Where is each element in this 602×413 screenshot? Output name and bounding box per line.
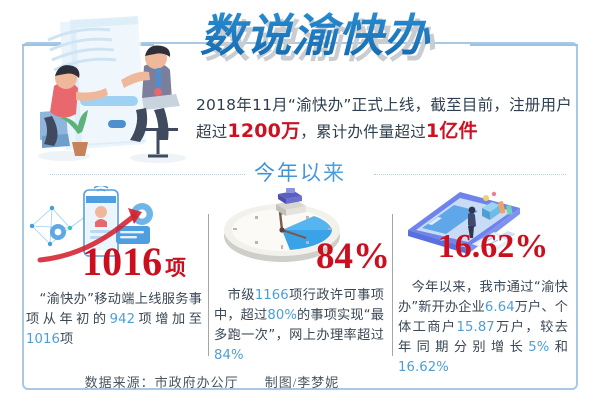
footer-credit: 制图/李梦妮 <box>265 375 340 390</box>
stat-desc-3-hl1: 6.64 <box>485 300 515 315</box>
stats-columns: 1016项 “渝快办”移动端上线服务事项从年初的942项增加至1016项 <box>24 186 576 366</box>
stat-desc-1-mid: 项增加至 <box>135 312 202 327</box>
stat-desc-2-hl2: 80% <box>267 308 297 323</box>
infographic-canvas: 数说渝快办 数说渝快办 2018年11月“渝快办”正式上线，截至目前，注册用户超… <box>0 0 602 413</box>
stat-value-1: 1016项 <box>24 242 226 282</box>
stat-number-1: 1016 <box>82 239 162 284</box>
stat-desc-3-mid3: 和 <box>549 340 568 355</box>
footer-credits: 数据来源：市政府办公厅制图/李梦妮 <box>22 372 402 391</box>
column-divider-2 <box>392 214 393 356</box>
intro-highlight-users: 1200万 <box>227 120 300 142</box>
stat-desc-3-hl3: 5% <box>528 340 549 355</box>
intro-paragraph: 2018年11月“渝快办”正式上线，截至目前，注册用户超过1200万，累计办件量… <box>196 92 572 145</box>
stat-desc-2-hl3: 84% <box>214 348 244 363</box>
stat-number-2: 84% <box>316 236 390 277</box>
stat-desc-2-hl1: 1166 <box>255 288 289 303</box>
intro-text-part2: ，累计办件量超过 <box>300 123 426 141</box>
stat-column-approval-items: 84% 市级1166项行政许可事项中，超过80%的事项实现“最多跑一次”，网上办… <box>210 186 392 366</box>
stat-desc-2-prefix: 市级 <box>214 288 255 303</box>
stat-desc-1-hl2: 1016 <box>26 332 60 347</box>
footer-source: 数据来源：市政府办公厅 <box>85 375 239 390</box>
page-title-text: 数说渝快办 <box>150 6 480 66</box>
stat-unit-1: 项 <box>165 256 186 280</box>
intro-highlight-cases: 1亿件 <box>426 120 478 142</box>
stat-column-new-businesses: 16.62% 今年以来，我市通过“渝快办”新开办企业6.64万户、个体工商户15… <box>394 186 576 366</box>
stat-description-2: 市级1166项行政许可事项中，超过80%的事项实现“最多跑一次”，网上办理率超过… <box>210 286 392 366</box>
stat-number-3: 16.62% <box>438 228 549 265</box>
stat-description-1: “渝快办”移动端上线服务事项从年初的942项增加至1016项 <box>24 290 208 350</box>
title-rule-right <box>470 44 578 46</box>
stat-desc-3-hl4: 16.62% <box>398 360 449 375</box>
stat-column-mobile-services: 1016项 “渝快办”移动端上线服务事项从年初的942项增加至1016项 <box>24 186 208 366</box>
stat-desc-1-suffix: 项 <box>60 332 73 347</box>
stat-desc-3-hl2: 15.87 <box>457 320 495 335</box>
page-title: 数说渝快办 数说渝快办 <box>150 6 480 72</box>
stat-description-3: 今年以来，我市通过“渝快办”新开办企业6.64万户、个体工商户15.87万户，较… <box>394 278 576 378</box>
column-divider-1 <box>208 214 209 356</box>
stat-desc-1-hl1: 942 <box>110 312 135 327</box>
stat-value-3: 16.62% <box>394 230 584 264</box>
